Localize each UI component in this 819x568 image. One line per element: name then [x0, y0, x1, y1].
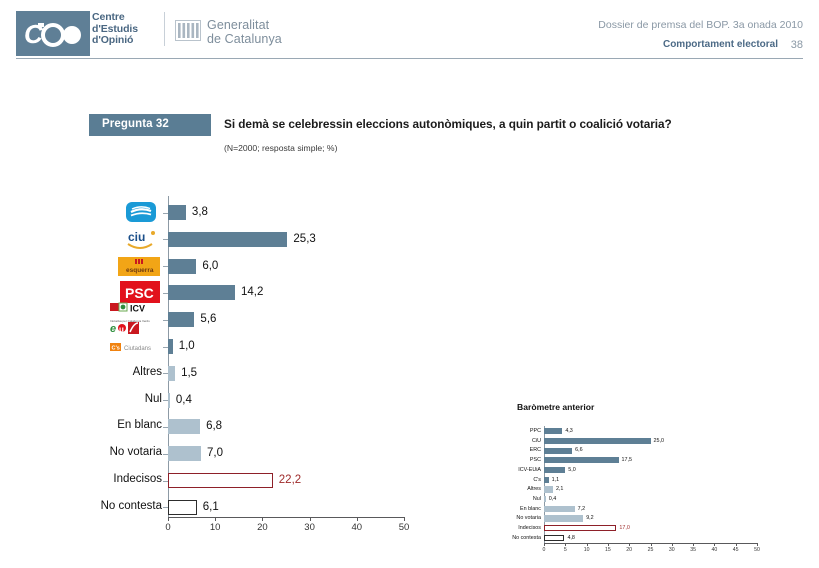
- bar-psc: [168, 285, 235, 300]
- inset-axis-tick: [714, 543, 715, 546]
- inset-bar-value: 17,5: [622, 456, 633, 465]
- inset-axis-tick-label: 20: [626, 547, 632, 553]
- inset-chart-row: CiU25,0: [497, 437, 767, 446]
- axis-tick: [215, 517, 216, 521]
- inset-axis-tick-label: 45: [733, 547, 739, 553]
- bar-en-blanc: [168, 419, 200, 434]
- inset-axis-tick: [757, 543, 758, 546]
- inset-axis-tick-label: 25: [648, 547, 654, 553]
- inset-bar-erc: [544, 448, 572, 454]
- inset-axis-tick: [608, 543, 609, 546]
- svg-text:u: u: [119, 325, 124, 334]
- inset-bar-value: 4,3: [565, 427, 573, 436]
- inset-bar-value: 6,6: [575, 446, 583, 455]
- inset-bar-icv-euia: [544, 467, 565, 473]
- axis-tick: [168, 517, 169, 521]
- axis-tick-label: 20: [257, 522, 268, 533]
- axis-tick: [262, 517, 263, 521]
- euia-logo: eu: [110, 321, 142, 335]
- bar-icv-euia: [168, 312, 194, 327]
- axis-tick: [357, 517, 358, 521]
- bar-value: 25,3: [293, 233, 315, 245]
- svg-text:ciu: ciu: [128, 230, 145, 244]
- inset-category-label: CiU: [497, 437, 541, 446]
- inset-category-label: ICV-EUiA: [497, 466, 541, 475]
- main-chart-axis: [168, 517, 405, 518]
- inset-bar-no-votaria: [544, 515, 583, 521]
- bar-c-s: [168, 339, 173, 354]
- bar-indecisos: [168, 473, 273, 488]
- ciutadans-logo: C’sCiutadans: [110, 340, 162, 358]
- inset-bar-value: 2,1: [556, 485, 564, 494]
- inset-category-label: ERC: [497, 446, 541, 455]
- inset-category-label: C's: [497, 476, 541, 485]
- inset-bar-no-contesta: [544, 535, 564, 541]
- inset-chart-row: No votaria9,2: [497, 514, 767, 523]
- inset-axis-tick-label: 40: [712, 547, 718, 553]
- svg-text:C’s: C’s: [112, 346, 120, 352]
- bar-value: 6,8: [206, 420, 222, 432]
- svg-text:PSC: PSC: [125, 285, 154, 301]
- inset-bar-value: 25,0: [654, 437, 665, 446]
- axis-tick-label: 10: [210, 522, 221, 533]
- category-label: No votaria: [67, 446, 162, 458]
- inset-axis-tick: [736, 543, 737, 546]
- inset-chart-row: PPC4,3: [497, 427, 767, 436]
- icv-logo: ICVIniciativa per Catalunya Verds: [110, 302, 162, 323]
- inset-chart-row: Indecisos17,0: [497, 524, 767, 533]
- inset-bar-value: 5,0: [568, 466, 576, 475]
- category-label: No contesta: [67, 500, 162, 512]
- inset-category-label: Altres: [497, 485, 541, 494]
- inset-bar-psc: [544, 457, 619, 463]
- inset-category-label: PSC: [497, 456, 541, 465]
- inset-category-label: En blanc: [497, 505, 541, 514]
- inset-bar-value: 1,1: [552, 476, 560, 485]
- inset-category-label: PPC: [497, 427, 541, 436]
- ciu-logo: ciu: [124, 228, 158, 255]
- esquerra-logo: esquerra: [118, 257, 160, 276]
- inset-category-label: No contesta: [497, 534, 541, 543]
- inset-category-label: Nul: [497, 495, 541, 504]
- inset-bar-ciu: [544, 438, 651, 444]
- inset-axis-tick-label: 30: [669, 547, 675, 553]
- axis-tick: [404, 517, 405, 521]
- svg-text:e: e: [110, 323, 116, 335]
- bar-no-votaria: [168, 446, 201, 461]
- bar-value: 6,1: [203, 501, 219, 513]
- inset-bar-en-blanc: [544, 506, 575, 512]
- inset-axis-tick-label: 5: [564, 547, 567, 553]
- category-label: Nul: [67, 393, 162, 405]
- esquerra-logo: esquerra: [118, 257, 160, 281]
- inset-bar-value: 0,4: [549, 495, 557, 504]
- inset-axis-tick: [693, 543, 694, 546]
- inset-chart-row: En blanc7,2: [497, 505, 767, 514]
- inset-chart-row: Nul0,4: [497, 495, 767, 504]
- inset-bar-value: 9,2: [586, 514, 594, 523]
- inset-bar-value: 7,2: [578, 505, 586, 514]
- axis-tick-label: 50: [399, 522, 410, 533]
- axis-tick-label: 30: [304, 522, 315, 533]
- bar-value: 1,5: [181, 367, 197, 379]
- inset-axis-tick-label: 10: [584, 547, 590, 553]
- inset-bar-value: 17,0: [619, 524, 630, 533]
- inset-bar-ppc: [544, 428, 562, 434]
- category-label: Altres: [67, 366, 162, 378]
- inset-bar-nul: [544, 496, 546, 502]
- inset-axis-tick: [544, 543, 545, 546]
- inset-category-label: Indecisos: [497, 524, 541, 533]
- inset-chart-row: No contesta4,8: [497, 534, 767, 543]
- bar-erc: [168, 259, 196, 274]
- bar-no-contesta: [168, 500, 197, 515]
- ciutadans-logo: C’sCiutadans: [110, 341, 162, 353]
- inset-chart-row: Altres2,1: [497, 485, 767, 494]
- category-label: Indecisos: [67, 473, 162, 485]
- inset-chart-row: ICV-EUiA5,0: [497, 466, 767, 475]
- ciu-logo: ciu: [124, 228, 158, 250]
- inset-axis-tick: [672, 543, 673, 546]
- inset-chart-row: C's1,1: [497, 476, 767, 485]
- bar-value: 3,8: [192, 206, 208, 218]
- inset-bar-c-s: [544, 477, 549, 483]
- inset-axis-tick-label: 0: [543, 547, 546, 553]
- inset-bar-value: 4,8: [567, 534, 575, 543]
- axis-tick-label: 40: [352, 522, 363, 533]
- icv-euia-logo: ICVIniciativa per Catalunya Verdseu: [110, 302, 162, 335]
- inset-bar-indecisos: [544, 525, 616, 531]
- axis-tick: [310, 517, 311, 521]
- inset-chart-title: Baròmetre anterior: [517, 402, 594, 412]
- pp-logo: [124, 201, 158, 223]
- pp-logo: [124, 201, 158, 228]
- psc-logo: PSC: [120, 281, 160, 303]
- bar-altres: [168, 366, 175, 381]
- bar-ciu: [168, 232, 287, 247]
- bar-value: 22,2: [279, 474, 301, 486]
- bar-nul: [168, 393, 170, 408]
- inset-chart-row: PSC17,5: [497, 456, 767, 465]
- inset-bar-altres: [544, 486, 553, 492]
- svg-text:esquerra: esquerra: [126, 267, 154, 274]
- bar-value: 0,4: [176, 394, 192, 406]
- inset-axis-tick-label: 35: [690, 547, 696, 553]
- svg-text:Ciutadans: Ciutadans: [124, 346, 151, 352]
- previous-barometer-chart: Baròmetre anterior PPC4,3CiU25,0ERC6,6PS…: [497, 402, 767, 562]
- category-label: En blanc: [67, 419, 162, 431]
- inset-category-label: No votaria: [497, 514, 541, 523]
- bar-value: 7,0: [207, 447, 223, 459]
- bar-value: 14,2: [241, 286, 263, 298]
- bar-value: 5,6: [200, 313, 216, 325]
- inset-axis-tick: [629, 543, 630, 546]
- inset-axis-tick-label: 15: [605, 547, 611, 553]
- inset-axis-tick: [587, 543, 588, 546]
- bar-ppc: [168, 205, 186, 220]
- inset-axis-tick: [651, 543, 652, 546]
- svg-text:ICV: ICV: [130, 304, 145, 314]
- inset-chart-row: ERC6,6: [497, 446, 767, 455]
- axis-tick-label: 0: [165, 522, 170, 533]
- bar-value: 6,0: [202, 260, 218, 272]
- inset-axis-tick-label: 50: [754, 547, 760, 553]
- bar-value: 1,0: [179, 340, 195, 352]
- inset-axis-tick: [565, 543, 566, 546]
